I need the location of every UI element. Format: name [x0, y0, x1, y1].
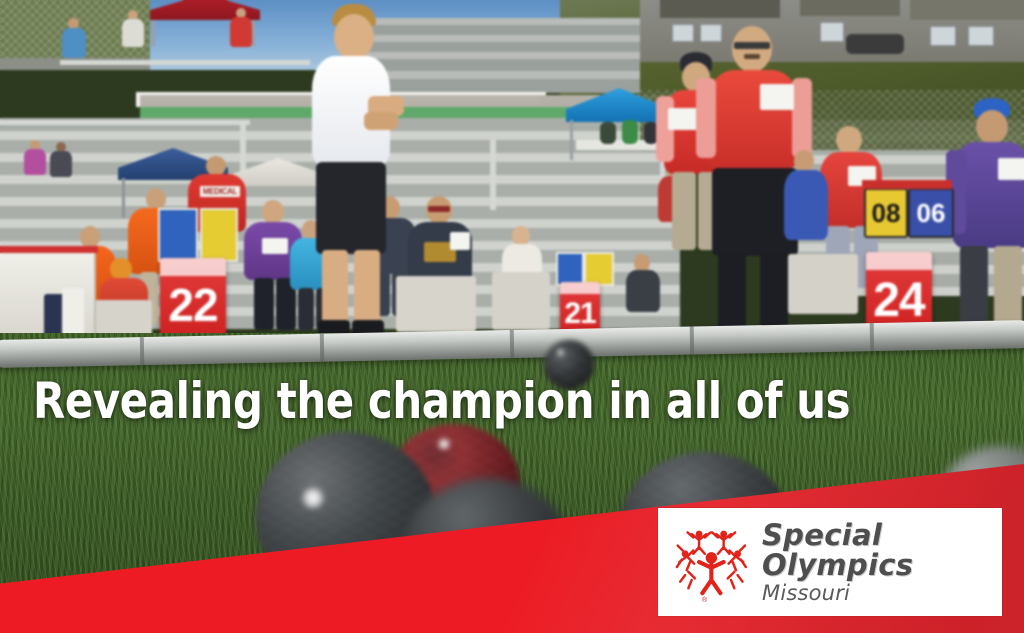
far-bleacher-riser — [340, 25, 640, 35]
court-sign-number: 21 — [564, 297, 595, 330]
house-window — [820, 22, 844, 42]
court-sign-number: 22 — [168, 279, 217, 331]
sunglasses — [428, 206, 450, 212]
scoreboard-value-right: 06 — [917, 198, 946, 228]
scoreboard-tile-left: 08 — [864, 188, 908, 238]
logo-title: Special Olympics — [762, 520, 1002, 580]
parked-car — [846, 34, 904, 54]
scoreboard-tile-right: 06 — [908, 188, 954, 238]
house-window — [700, 24, 722, 42]
court-sign-number: 24 — [873, 274, 924, 327]
canopy-pole — [570, 120, 573, 160]
far-bleacher-row — [340, 18, 640, 25]
far-bleacher-row — [366, 71, 640, 79]
medical-vest-label: MEDICAL — [200, 186, 240, 197]
shorts — [316, 162, 386, 254]
score-card-blue — [158, 208, 198, 262]
mustache — [744, 54, 760, 59]
score-card-blue — [556, 252, 584, 286]
logo-subtitle: Missouri — [762, 581, 1002, 605]
bleacher-rail — [60, 60, 310, 65]
scoreboard-top-stripe — [862, 180, 952, 189]
seated-person — [600, 122, 616, 144]
far-bleacher-riser — [358, 59, 640, 71]
canopy-pole — [122, 178, 125, 218]
special-olympics-logo-icon: ® — [672, 521, 754, 603]
panel-top-stripe — [0, 246, 98, 253]
far-bleacher-row — [358, 52, 640, 59]
logo-panel: ® Special Olympics Missouri — [658, 508, 1002, 616]
score-card-yellow — [200, 208, 238, 262]
score-card-yellow — [584, 252, 614, 286]
house-roof — [910, 0, 1024, 20]
canopy-pole — [252, 20, 255, 46]
house-window — [968, 26, 994, 46]
house-roof — [800, 0, 900, 16]
court-sign-cap — [160, 258, 226, 276]
page-headline: Revealing the champion in all of us — [33, 375, 850, 427]
bleacher-rail — [0, 120, 250, 125]
bleacher-rail-post — [490, 140, 496, 210]
registered-trademark-icon: ® — [702, 597, 707, 604]
promotional-banner: MEDICAL 22 — [0, 0, 1024, 633]
scoreboard-value-left: 08 — [872, 198, 901, 228]
folding-chair — [396, 276, 476, 332]
court-sign-22: 22 — [160, 258, 226, 338]
house-window — [930, 26, 956, 46]
house-roof — [660, 0, 780, 18]
eyeglasses — [734, 42, 770, 49]
far-bleacher-riser — [350, 42, 640, 52]
court-sign-cap — [560, 282, 600, 294]
folding-chair — [492, 272, 550, 330]
seated-person — [622, 120, 638, 144]
court-sign-cap — [866, 252, 932, 270]
house-window — [672, 24, 694, 42]
folding-chair — [788, 254, 858, 314]
far-bleacher-row — [350, 35, 640, 42]
canopy-pole — [152, 20, 155, 46]
